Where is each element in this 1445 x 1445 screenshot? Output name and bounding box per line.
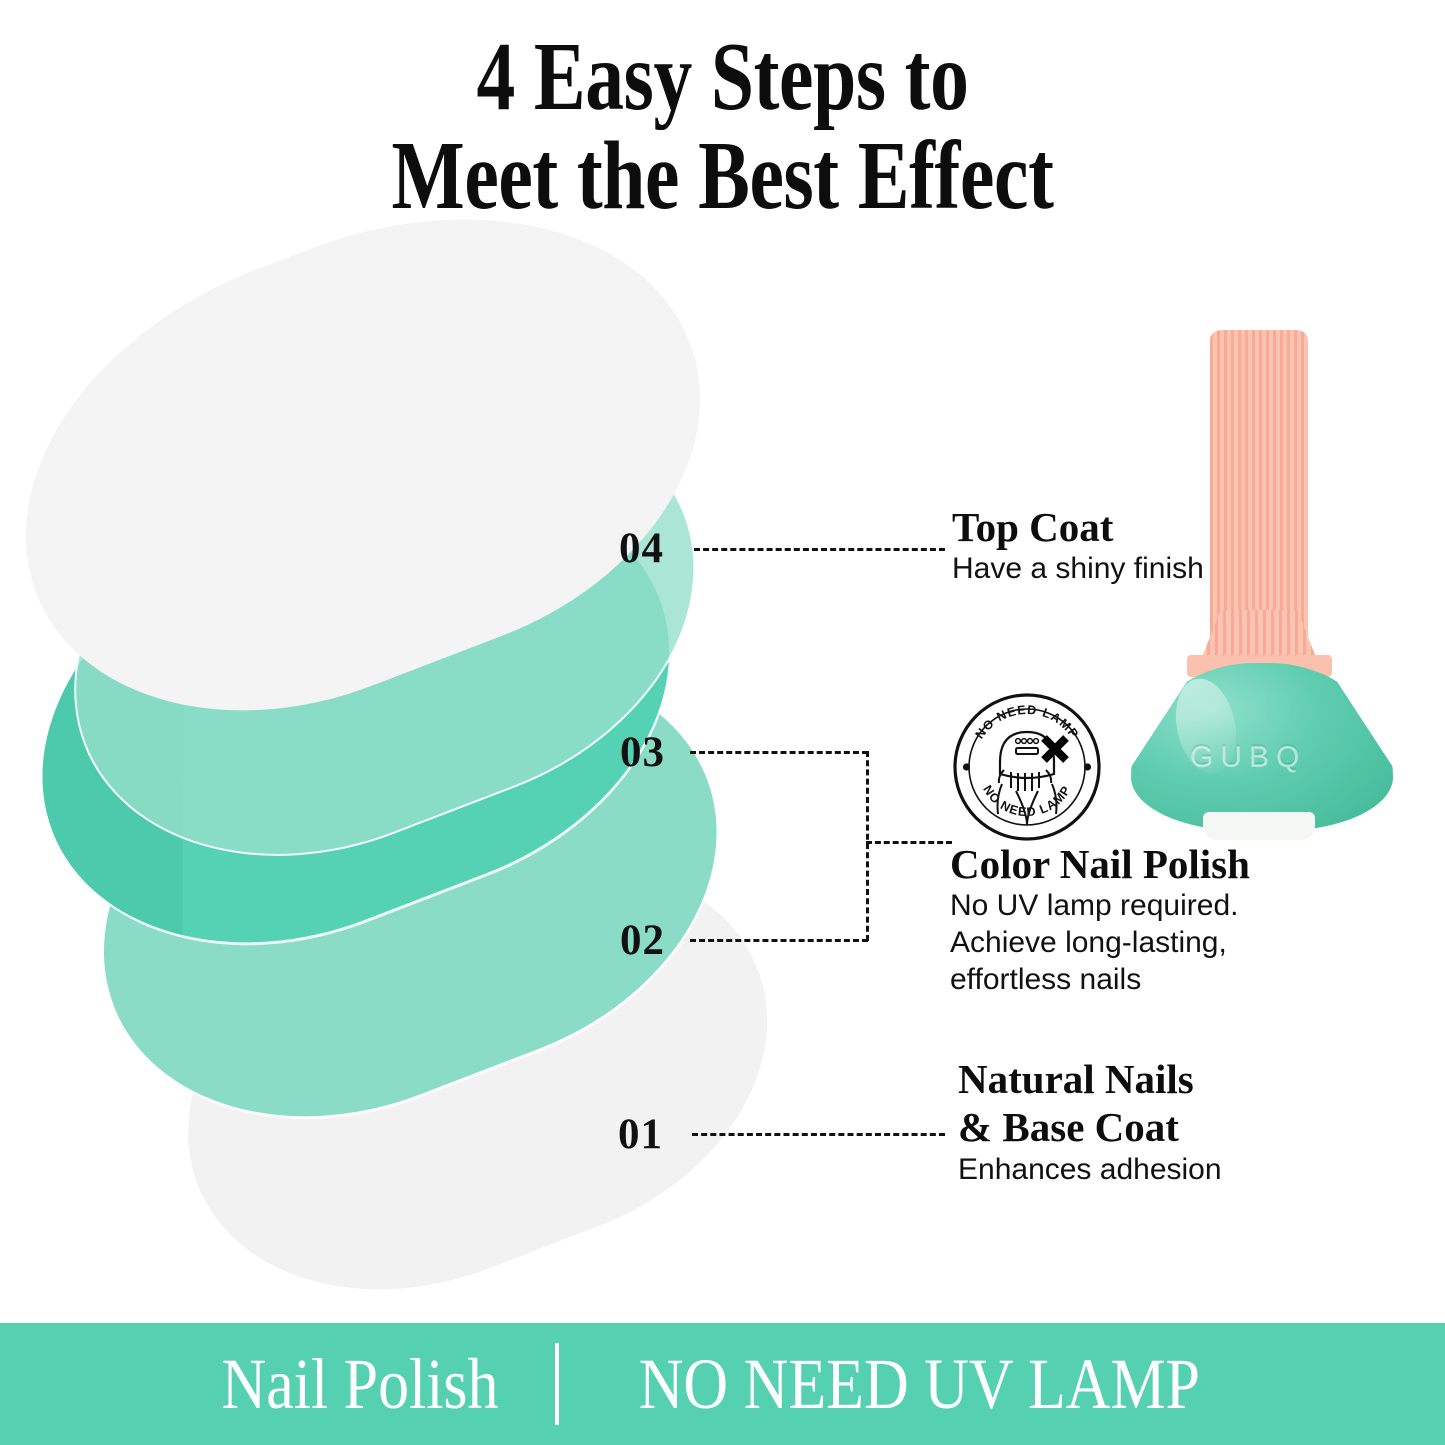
callout-natural-nails: Natural Nails & Base Coat Enhances adhes… (958, 1055, 1222, 1188)
banner-label-left: Nail Polish (222, 1343, 499, 1426)
callout-body-natural-nails: Enhances adhesion (958, 1152, 1222, 1189)
callout-body-line-3: effortless nails (950, 962, 1250, 999)
leader-line-02 (690, 939, 868, 942)
no-need-lamp-badge: NO NEED LAMP NO NEED LAMP (952, 692, 1102, 842)
svg-text:NO NEED LAMP: NO NEED LAMP (980, 783, 1074, 819)
bottom-banner: Nail Polish NO NEED UV LAMP (0, 1323, 1445, 1445)
title-line-1: 4 Easy Steps to (145, 28, 1301, 127)
nail-layer-stack (0, 230, 830, 1300)
leader-line-03 (690, 751, 868, 754)
leader-line-bracket-vertical (866, 751, 869, 941)
page-title: 4 Easy Steps to Meet the Best Effect (0, 28, 1445, 226)
leader-line-bracket-branch (866, 841, 952, 844)
callout-body-line-1: No UV lamp required. (950, 888, 1250, 925)
leader-line-04 (694, 548, 945, 551)
banner-divider (555, 1343, 559, 1425)
callout-title-color-nail-polish: Color Nail Polish (950, 840, 1250, 888)
step-number-02: 02 (620, 916, 665, 965)
callout-color-nail-polish: Color Nail Polish No UV lamp required. A… (950, 840, 1250, 998)
callout-body-line-2: Achieve long-lasting, (950, 925, 1250, 962)
banner-label-right: NO NEED UV LAMP (639, 1343, 1200, 1426)
bottle-cap (1210, 330, 1308, 640)
leader-line-01 (692, 1133, 945, 1136)
step-number-01: 01 (618, 1110, 663, 1159)
step-number-03: 03 (620, 728, 665, 777)
title-line-2: Meet the Best Effect (145, 127, 1301, 226)
callout-title-natural-nails-line-2: & Base Coat (958, 1103, 1222, 1151)
product-infographic: 4 Easy Steps to Meet the Best Effect 04 … (0, 0, 1445, 1445)
bottle-base (1203, 812, 1315, 840)
callout-title-natural-nails-line-1: Natural Nails (958, 1055, 1222, 1103)
step-number-04: 04 (619, 524, 664, 573)
bottle-brand-emboss: GUBQ (1190, 740, 1306, 774)
